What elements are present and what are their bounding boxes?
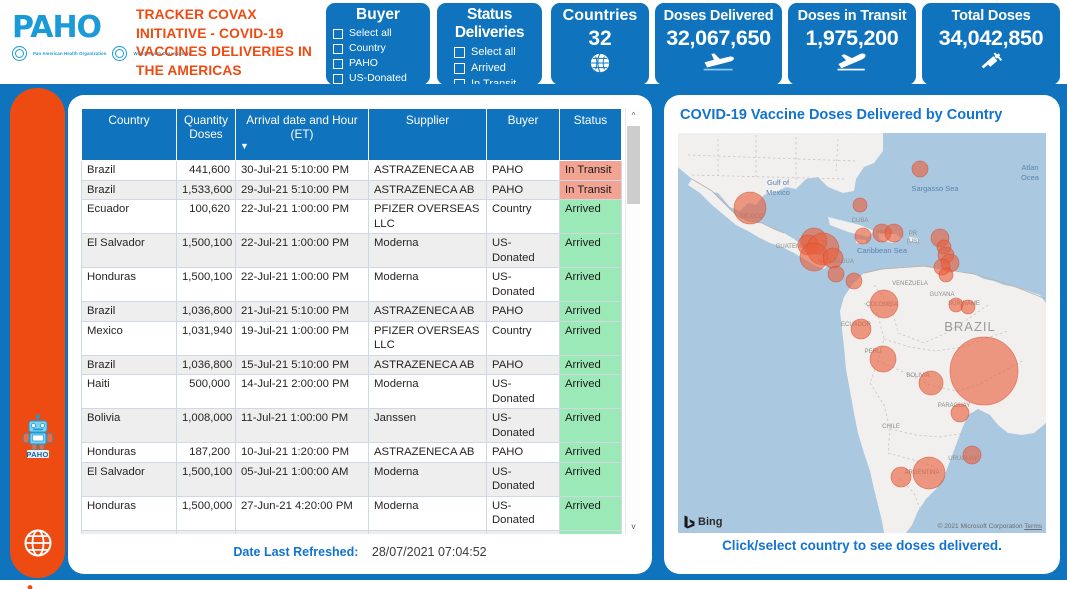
scroll-up-icon[interactable]: ^	[626, 108, 641, 123]
slicer-status-option-select-all[interactable]: Select all	[438, 44, 541, 60]
cell-buyer: PAHO	[487, 161, 560, 181]
cell-supplier: Moderna	[369, 462, 487, 496]
cell-arrival-date: 30-Jul-21 5:10:00 PM	[236, 161, 369, 181]
checkbox-icon[interactable]	[333, 44, 343, 54]
slicer-option-label: Select all	[471, 44, 516, 60]
table-row[interactable]: Brazil441,60030-Jul-21 5:10:00 PMASTRAZE…	[82, 161, 622, 181]
page-title: TRACKER COVAX INITIATIVE - COVID-19 VACC…	[136, 6, 321, 80]
cell-arrival-date: 22-Jul-21 1:00:00 PM	[236, 234, 369, 268]
map-bubble	[855, 228, 871, 244]
date-last-refreshed-value: 28/07/2021 07:04:52	[372, 545, 487, 559]
cell-buyer: US-Donated	[487, 268, 560, 302]
map-country-label: (US)	[907, 239, 919, 245]
cell-country: El Salvador	[82, 234, 177, 268]
cell-buyer: US-Donated	[487, 462, 560, 496]
cell-country: Honduras	[82, 496, 177, 530]
cell-arrival-date: 10-Jul-21 1:20:00 PM	[236, 443, 369, 463]
map-bubble	[870, 346, 896, 372]
map-bubble	[951, 404, 969, 422]
cell-country: Ecuador	[82, 200, 177, 234]
cell-country: Brazil	[82, 302, 177, 322]
table-row[interactable]: Ecuador100,62022-Jul-21 1:00:00 PMPFIZER…	[82, 200, 622, 234]
map-bubble	[870, 290, 898, 318]
cell-country: El Salvador	[82, 462, 177, 496]
cell-arrival-date: 05-Jul-21 1:00:00 AM	[236, 462, 369, 496]
cell-supplier: Moderna	[369, 234, 487, 268]
checkbox-icon[interactable]	[454, 63, 465, 74]
cell-quantity-doses: 500,000	[177, 375, 236, 409]
column-header-arrival-date[interactable]: Arrival date and Hour (ET) ▼	[236, 109, 369, 161]
cell-country: Brazil	[82, 161, 177, 181]
cell-quantity-doses: 1,500,100	[177, 268, 236, 302]
column-header-country[interactable]: Country	[82, 109, 177, 161]
map-country-label: BRAZIL	[944, 319, 996, 334]
slicer-option-label: Arrived	[471, 60, 506, 76]
map-bubble	[913, 457, 945, 489]
checkbox-icon[interactable]	[333, 74, 343, 84]
bing-icon	[684, 515, 695, 529]
kpi-countries-title: Countries	[552, 4, 648, 25]
cell-country: Bolivia	[82, 409, 177, 443]
status-badge: Arrived	[560, 462, 622, 496]
map-panel: COVID-19 Vaccine Doses Delivered by Coun…	[664, 95, 1060, 574]
table-row[interactable]: Bolivia1,008,00011-Jul-21 1:00:00 PMJans…	[82, 409, 622, 443]
kpi-doses-delivered-value: 32,067,650	[656, 28, 781, 50]
cell-supplier: ASTRAZENECA AB	[369, 180, 487, 200]
checkbox-icon[interactable]	[333, 59, 343, 69]
column-header-buyer[interactable]: Buyer	[487, 109, 560, 161]
globe-icon	[552, 52, 648, 79]
column-header-quantity-doses[interactable]: Quantity Doses	[177, 109, 236, 161]
column-header-status[interactable]: Status	[560, 109, 622, 161]
cell-country: Brazil	[82, 355, 177, 375]
slicer-option-label: Country	[349, 41, 386, 56]
map-country-label: GUYANA	[930, 292, 955, 298]
slicer-status-title: Status Deliveries	[438, 4, 541, 42]
status-badge: In Transit	[560, 180, 622, 200]
kpi-doses-in-transit-title: Doses in Transit	[789, 4, 915, 24]
table-row[interactable]: Honduras1,500,10022-Jul-21 1:00:00 PMMod…	[82, 268, 622, 302]
cell-supplier: PFIZER OVERSEAS LLC	[369, 530, 487, 534]
map-bubble	[734, 192, 766, 224]
cell-quantity-doses: 1,008,000	[177, 409, 236, 443]
cell-buyer: PAHO	[487, 302, 560, 322]
sidebar-item-linkedin[interactable]	[10, 580, 65, 589]
cell-supplier: Moderna	[369, 375, 487, 409]
slicer-buyer-option-paho[interactable]: PAHO	[327, 56, 429, 71]
date-last-refreshed-label: Date Last Refreshed:	[233, 545, 358, 559]
map-bubble	[950, 337, 1018, 405]
kpi-doses-in-transit[interactable]: Doses in Transit 1,975,200	[788, 3, 916, 85]
cell-buyer: PAHO	[487, 355, 560, 375]
slicer-buyer[interactable]: Buyer Select all Country PAHO US-Donated	[326, 3, 430, 85]
map-country-label: PR	[909, 231, 918, 237]
sidebar: PAHO	[10, 88, 65, 578]
table-row[interactable]: Honduras1,500,00027-Jun-21 4:20:00 PMMod…	[82, 496, 622, 530]
cell-supplier: ASTRAZENECA AB	[369, 302, 487, 322]
plane-landing-icon	[656, 52, 781, 76]
cell-buyer: Country	[487, 530, 560, 534]
map-title: COVID-19 Vaccine Doses Delivered by Coun…	[680, 107, 1002, 123]
map-bubble	[891, 467, 911, 487]
linkedin-icon	[23, 580, 53, 589]
map-bubble	[851, 319, 871, 339]
map-bubble	[828, 266, 844, 282]
header-band: PAHO Pan American Health Organization Wo…	[0, 0, 1067, 88]
cell-quantity-doses: 187,200	[177, 443, 236, 463]
cell-buyer: US-Donated	[487, 234, 560, 268]
paho-logo-subtitles: Pan American Health Organization World H…	[12, 46, 132, 61]
map-bubble	[823, 248, 843, 268]
cell-quantity-doses: 40,950	[177, 530, 236, 534]
table-row[interactable]: Costa Rica40,95025-Jun-21 8:00:00 AMPFIZ…	[82, 530, 622, 534]
plane-takeoff-icon	[789, 52, 915, 76]
cell-supplier: ASTRAZENECA AB	[369, 355, 487, 375]
map-bubble	[885, 224, 903, 242]
slicer-option-label: PAHO	[349, 56, 378, 71]
status-badge: Arrived	[560, 302, 622, 322]
table-vertical-scrollbar[interactable]: ^ v	[625, 108, 640, 534]
kpi-doses-in-transit-value: 1,975,200	[789, 28, 915, 50]
paho-logo-text: PAHO	[12, 12, 132, 44]
map-credit-text: © 2021 Microsoft Corporation	[938, 523, 1023, 530]
deliveries-table-body: Brazil441,60030-Jul-21 5:10:00 PMASTRAZE…	[82, 161, 622, 535]
bing-logo[interactable]: Bing	[684, 515, 722, 529]
status-badge: Arrived	[560, 530, 622, 534]
map-caption: Click/select country to see doses delive…	[664, 538, 1060, 553]
status-badge: Arrived	[560, 409, 622, 443]
map-terms-link[interactable]: Terms	[1024, 523, 1042, 530]
syringe-icon	[923, 52, 1059, 76]
cell-country: Honduras	[82, 268, 177, 302]
cell-arrival-date: 25-Jun-21 8:00:00 AM	[236, 530, 369, 534]
map-country-label: VENEZUELA	[892, 281, 928, 287]
cell-arrival-date: 22-Jul-21 1:00:00 PM	[236, 200, 369, 234]
column-header-arrival-date-label: Arrival date and Hour (ET)	[246, 113, 357, 141]
map-bubble	[939, 268, 953, 282]
table-row[interactable]: El Salvador1,500,10022-Jul-21 1:00:00 PM…	[82, 234, 622, 268]
kpi-total-doses-title: Total Doses	[923, 4, 1059, 24]
paho-seal-icon	[12, 46, 27, 61]
cell-buyer: US-Donated	[487, 409, 560, 443]
table-row[interactable]: Brazil1,533,60029-Jul-21 5:10:00 PMASTRA…	[82, 180, 622, 200]
cell-arrival-date: 15-Jul-21 5:10:00 PM	[236, 355, 369, 375]
table-row[interactable]: Haiti500,00014-Jul-21 2:00:00 PMModernaU…	[82, 375, 622, 409]
status-badge: Arrived	[560, 200, 622, 234]
cell-supplier: Moderna	[369, 496, 487, 530]
table-row[interactable]: El Salvador1,500,10005-Jul-21 1:00:00 AM…	[82, 462, 622, 496]
sidebar-item-paho-bot[interactable]: PAHO	[10, 413, 65, 459]
map-sea-label: Gulf of	[767, 178, 790, 187]
table-row[interactable]: Brazil1,036,80015-Jul-21 5:10:00 PMASTRA…	[82, 355, 622, 375]
slicer-status-deliveries[interactable]: Status Deliveries Select all Arrived In …	[437, 3, 542, 85]
cell-quantity-doses: 1,036,800	[177, 355, 236, 375]
cell-supplier: ASTRAZENECA AB	[369, 161, 487, 181]
scrollbar-thumb[interactable]	[627, 126, 640, 204]
cell-country: Costa Rica	[82, 530, 177, 534]
cell-supplier: PFIZER OVERSEAS LLC	[369, 200, 487, 234]
paho-logo: PAHO Pan American Health Organization Wo…	[12, 12, 132, 67]
cell-quantity-doses: 441,600	[177, 161, 236, 181]
map-sea-label: Sargasso Sea	[911, 184, 959, 193]
map-sea-label: Caribbean Sea	[857, 246, 908, 255]
cell-quantity-doses: 1,500,000	[177, 496, 236, 530]
cell-arrival-date: 14-Jul-21 2:00:00 PM	[236, 375, 369, 409]
sidebar-item-paho-bot-label: PAHO	[10, 450, 65, 459]
deliveries-table-scroll-area[interactable]: Country Quantity Doses Arrival date and …	[81, 108, 638, 534]
cell-quantity-doses: 1,500,100	[177, 462, 236, 496]
table-row[interactable]: Brazil1,036,80021-Jul-21 5:10:00 PMASTRA…	[82, 302, 622, 322]
cell-quantity-doses: 100,620	[177, 200, 236, 234]
map-bubble	[912, 161, 928, 177]
dashboard-root: PAHO Pan American Health Organization Wo…	[0, 0, 1067, 589]
status-badge: Arrived	[560, 234, 622, 268]
deliveries-table-panel: Country Quantity Doses Arrival date and …	[68, 95, 652, 574]
map-credit: © 2021 Microsoft Corporation Terms	[938, 523, 1042, 530]
map-canvas[interactable]: Gulf of Mexico Sargasso Sea Caribbean Se…	[678, 133, 1046, 533]
scroll-down-icon[interactable]: v	[626, 519, 641, 534]
cell-supplier: PFIZER OVERSEAS LLC	[369, 321, 487, 355]
table-row[interactable]: Mexico1,031,94019-Jul-21 1:00:00 PMPFIZE…	[82, 321, 622, 355]
who-seal-icon	[112, 46, 127, 61]
cell-arrival-date: 29-Jul-21 5:10:00 PM	[236, 180, 369, 200]
status-badge: In Transit	[560, 161, 622, 181]
map-country-label: CHILE	[882, 424, 900, 430]
cell-country: Brazil	[82, 180, 177, 200]
bottom-rule	[0, 576, 1067, 589]
column-header-supplier[interactable]: Supplier	[369, 109, 487, 161]
status-badge: Arrived	[560, 443, 622, 463]
slicer-buyer-option-country[interactable]: Country	[327, 41, 429, 56]
slicer-option-label: Select all	[349, 26, 392, 41]
cell-buyer: Country	[487, 200, 560, 234]
kpi-countries-value: 32	[552, 28, 648, 49]
checkbox-icon[interactable]	[333, 29, 343, 39]
status-badge: Arrived	[560, 355, 622, 375]
map-sea-label: Mexico	[766, 188, 790, 197]
date-last-refreshed: Date Last Refreshed: 28/07/2021 07:04:52	[68, 545, 652, 559]
map-sea-label: Atlan	[1021, 163, 1038, 172]
bing-logo-label: Bing	[698, 516, 722, 528]
map-bubble	[853, 198, 867, 212]
map-country-label: CUBA	[852, 218, 869, 224]
slicer-buyer-options: Select all Country PAHO US-Donated	[327, 26, 429, 86]
cell-arrival-date: 11-Jul-21 1:00:00 PM	[236, 409, 369, 443]
cell-quantity-doses: 1,500,100	[177, 234, 236, 268]
slicer-status-option-arrived[interactable]: Arrived	[438, 60, 541, 76]
cell-supplier: Janssen	[369, 409, 487, 443]
checkbox-icon[interactable]	[454, 47, 465, 58]
map-bubble	[961, 300, 975, 314]
map-bubble	[919, 371, 943, 395]
cell-country: Haiti	[82, 375, 177, 409]
cell-quantity-doses: 1,031,940	[177, 321, 236, 355]
cell-supplier: ASTRAZENECA AB	[369, 443, 487, 463]
slicer-buyer-option-select-all[interactable]: Select all	[327, 26, 429, 41]
kpi-countries[interactable]: Countries 32	[551, 3, 649, 85]
deliveries-table[interactable]: Country Quantity Doses Arrival date and …	[81, 108, 622, 534]
table-header-row: Country Quantity Doses Arrival date and …	[82, 109, 622, 161]
status-badge: Arrived	[560, 268, 622, 302]
cell-arrival-date: 19-Jul-21 1:00:00 PM	[236, 321, 369, 355]
cell-quantity-doses: 1,533,600	[177, 180, 236, 200]
cell-arrival-date: 21-Jul-21 5:10:00 PM	[236, 302, 369, 322]
kpi-total-doses[interactable]: Total Doses 34,042,850	[922, 3, 1060, 85]
slicer-buyer-title: Buyer	[327, 4, 429, 24]
cell-arrival-date: 27-Jun-21 4:20:00 PM	[236, 496, 369, 530]
map-sea-label: Ocea	[1021, 173, 1040, 182]
cell-supplier: Moderna	[369, 268, 487, 302]
status-badge: Arrived	[560, 496, 622, 530]
cell-country: Honduras	[82, 443, 177, 463]
cell-arrival-date: 22-Jul-21 1:00:00 PM	[236, 268, 369, 302]
cell-country: Mexico	[82, 321, 177, 355]
cell-buyer: PAHO	[487, 443, 560, 463]
cell-quantity-doses: 1,036,800	[177, 302, 236, 322]
sort-descending-icon: ▼	[240, 142, 364, 150]
table-row[interactable]: Honduras187,20010-Jul-21 1:20:00 PMASTRA…	[82, 443, 622, 463]
globe-icon	[23, 528, 53, 558]
cell-buyer: PAHO	[487, 180, 560, 200]
status-badge: Arrived	[560, 321, 622, 355]
paho-logo-sub-left: Pan American Health Organization	[33, 51, 106, 56]
kpi-total-doses-value: 34,042,850	[923, 28, 1059, 50]
map-bubble	[963, 446, 981, 464]
cell-buyer: Country	[487, 321, 560, 355]
status-badge: Arrived	[560, 375, 622, 409]
kpi-doses-delivered-title: Doses Delivered	[656, 4, 781, 24]
sidebar-item-website[interactable]	[10, 528, 65, 563]
cell-buyer: US-Donated	[487, 496, 560, 530]
kpi-doses-delivered[interactable]: Doses Delivered 32,067,650	[655, 3, 782, 85]
cell-buyer: US-Donated	[487, 375, 560, 409]
map-bubble	[846, 273, 862, 289]
